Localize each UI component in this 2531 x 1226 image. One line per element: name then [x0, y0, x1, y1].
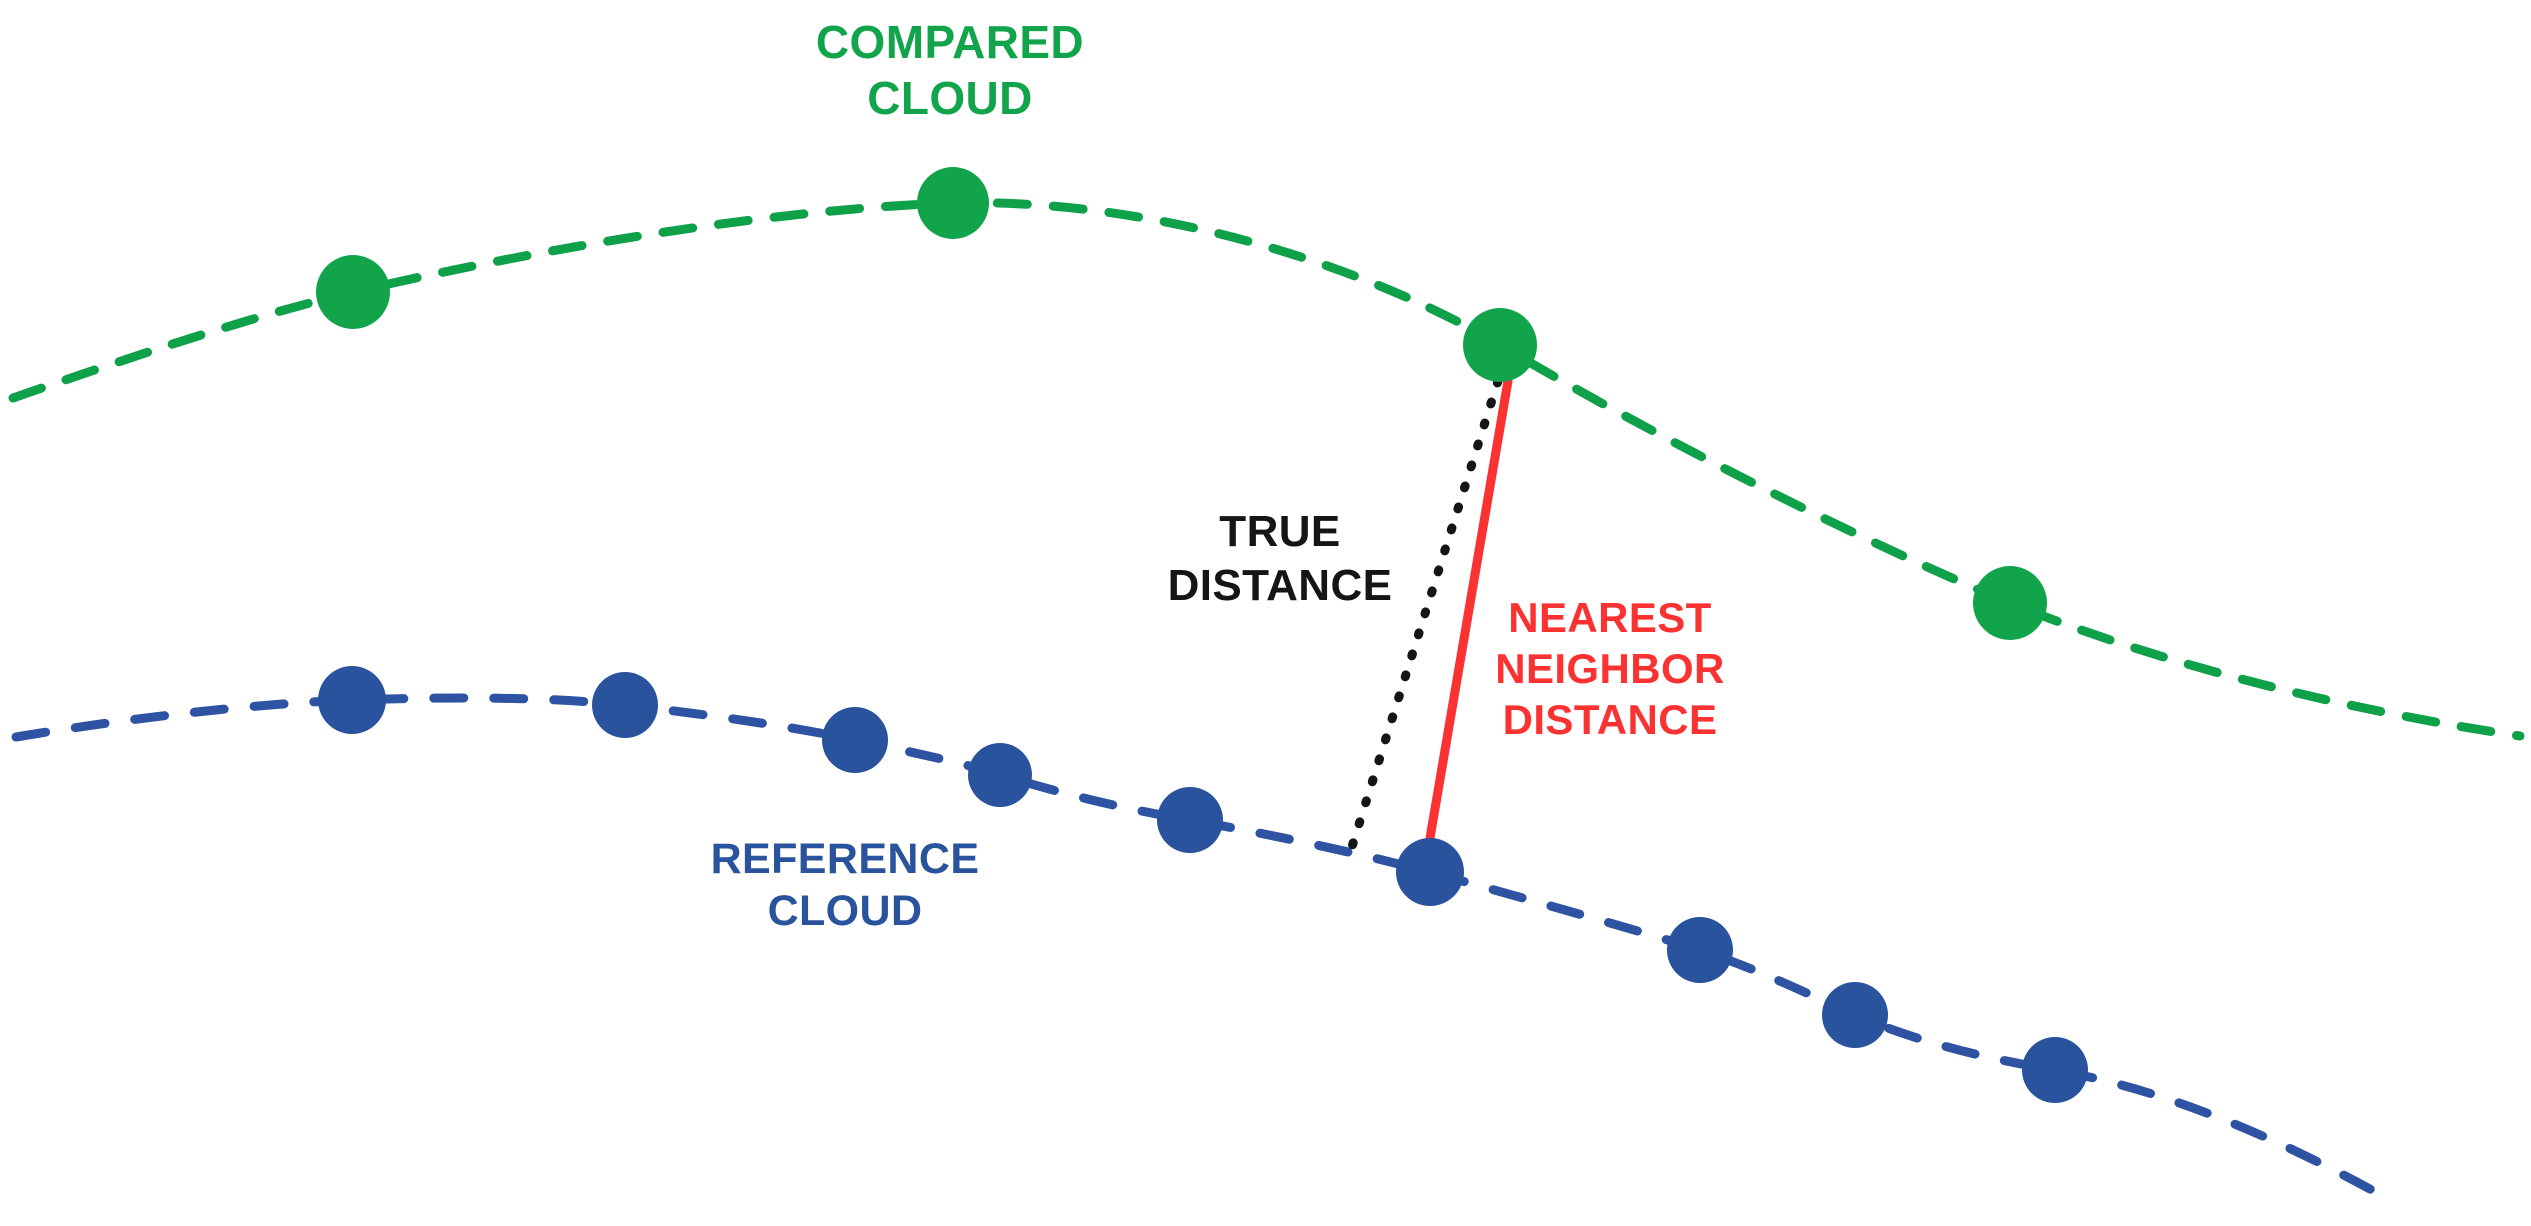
compared-cloud-curve: [13, 203, 2520, 736]
reference-cloud-point: [592, 672, 658, 738]
reference-cloud-label: REFERENCE CLOUD: [680, 833, 1010, 938]
compared-cloud-label: COMPARED CLOUD: [700, 14, 1200, 126]
reference-cloud-point: [2022, 1037, 2088, 1103]
true-distance-label: TRUE DISTANCE: [1130, 505, 1430, 612]
reference-cloud-point: [968, 743, 1032, 807]
reference-cloud-point: [1822, 982, 1888, 1048]
compared-cloud-point: [1973, 566, 2047, 640]
reference-cloud-point: [822, 707, 888, 773]
reference-cloud-point: [1667, 917, 1733, 983]
diagram-canvas: COMPARED CLOUD REFERENCE CLOUD TRUE DIST…: [0, 0, 2531, 1226]
reference-cloud-point: [318, 666, 386, 734]
reference-cloud-points: [318, 666, 2088, 1103]
reference-cloud-curve: [16, 698, 2390, 1200]
reference-cloud-point-nearest: [1396, 838, 1464, 906]
point-cloud-distance-diagram: [0, 0, 2531, 1226]
reference-cloud-point: [1157, 787, 1223, 853]
compared-cloud-point: [1463, 308, 1537, 382]
nearest-neighbor-distance-label: NEAREST NEIGHBOR DISTANCE: [1470, 592, 1750, 746]
compared-cloud-point: [316, 255, 390, 329]
compared-cloud-point: [917, 167, 989, 239]
